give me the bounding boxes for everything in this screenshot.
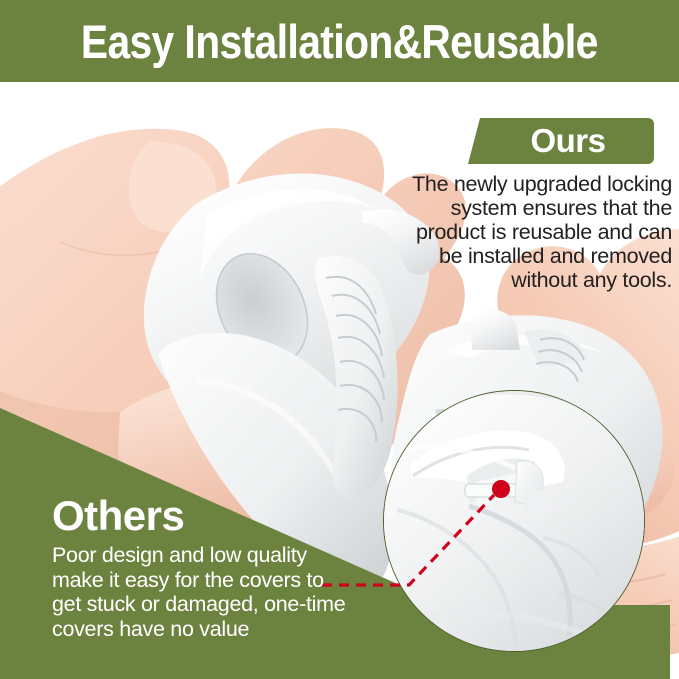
header-banner: Easy Installation&Reusable bbox=[0, 0, 679, 82]
ours-badge: Ours bbox=[466, 116, 656, 166]
ours-description: The newly upgraded locking system ensure… bbox=[404, 172, 672, 292]
zoom-inset-circle bbox=[383, 390, 645, 652]
ours-badge-label: Ours bbox=[466, 116, 656, 166]
locking-tab-closeup-illustration bbox=[383, 390, 645, 652]
others-heading: Others bbox=[52, 495, 184, 537]
product-feature-poster: Easy Installation&Reusable bbox=[0, 0, 679, 679]
page-title: Easy Installation&Reusable bbox=[81, 18, 598, 65]
others-description: Poor design and low quality make it easy… bbox=[52, 543, 352, 641]
